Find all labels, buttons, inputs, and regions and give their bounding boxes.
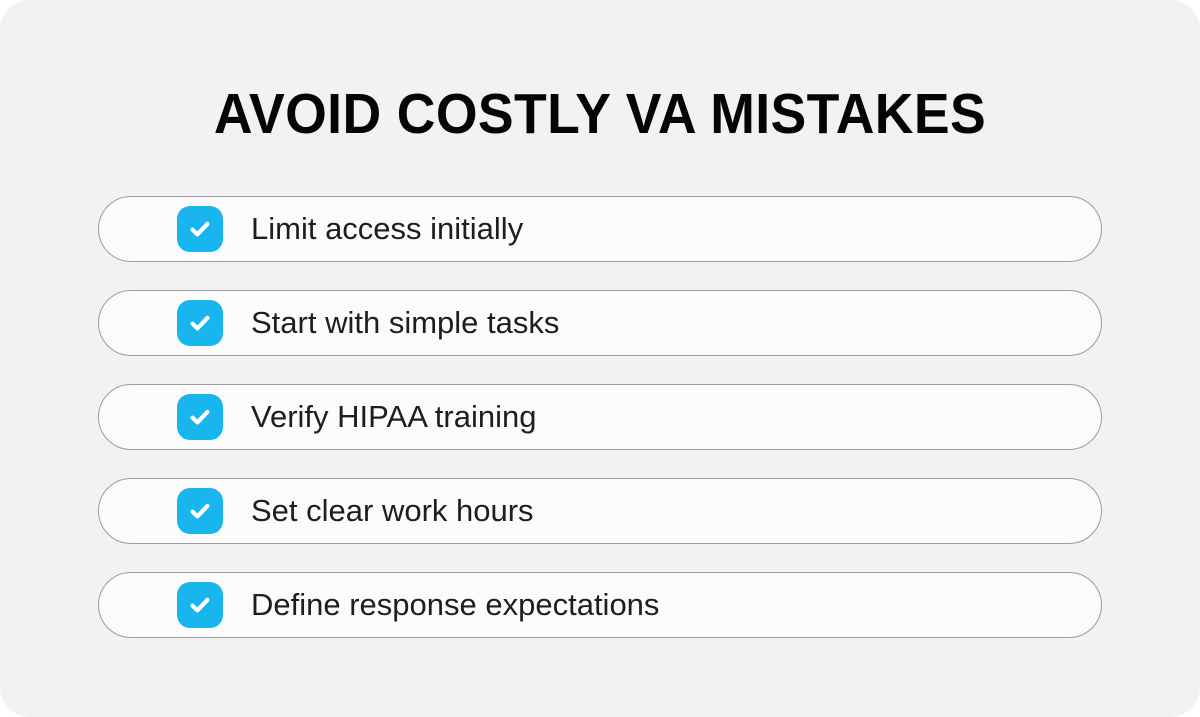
list-item[interactable]: Verify HIPAA training [98, 384, 1102, 450]
list-item[interactable]: Define response expectations [98, 572, 1102, 638]
check-square-icon[interactable] [177, 582, 223, 628]
checklist: Limit access initially Start with simple… [98, 196, 1102, 638]
list-item[interactable]: Start with simple tasks [98, 290, 1102, 356]
list-item[interactable]: Set clear work hours [98, 478, 1102, 544]
content-card: AVOID COSTLY VA MISTAKES Limit access in… [0, 0, 1200, 717]
list-item-label: Limit access initially [251, 210, 523, 248]
check-square-icon[interactable] [177, 488, 223, 534]
list-item-label: Set clear work hours [251, 492, 534, 530]
check-square-icon[interactable] [177, 206, 223, 252]
check-square-icon[interactable] [177, 394, 223, 440]
list-item-label: Define response expectations [251, 586, 659, 624]
list-item-label: Verify HIPAA training [251, 398, 536, 436]
list-item[interactable]: Limit access initially [98, 196, 1102, 262]
check-square-icon[interactable] [177, 300, 223, 346]
list-item-label: Start with simple tasks [251, 304, 559, 342]
page-title: AVOID COSTLY VA MISTAKES [36, 82, 1164, 146]
